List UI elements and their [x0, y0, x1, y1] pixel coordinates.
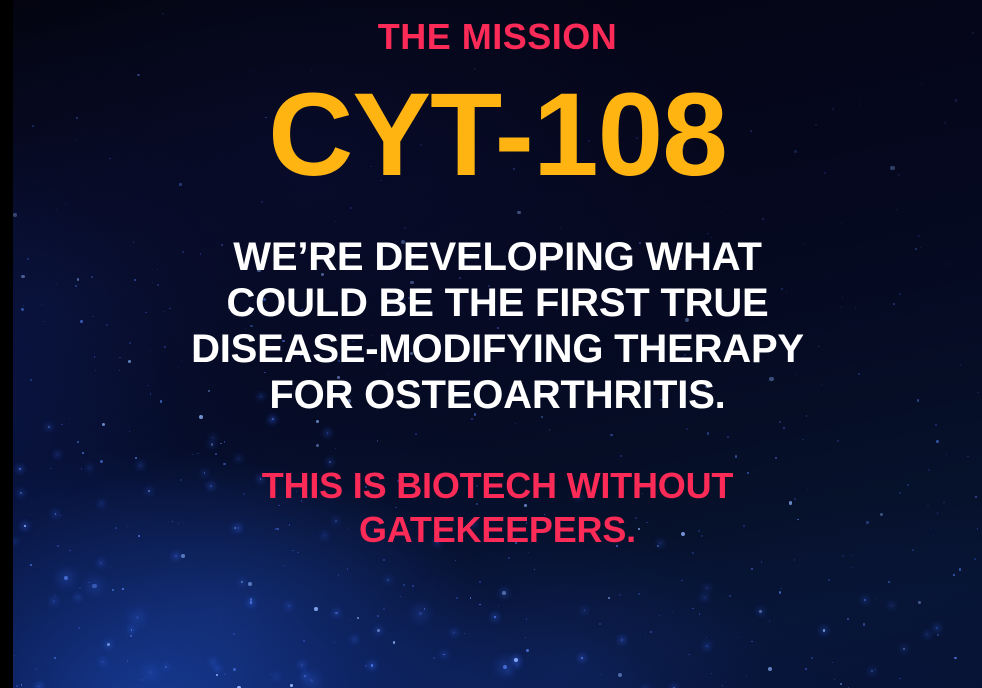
slide-content: THE MISSION CYT-108 WE’RE DEVELOPING WHA…: [13, 0, 982, 688]
tagline: THIS IS BIOTECH WITHOUT GATEKEEPERS.: [262, 464, 733, 552]
body-line: FOR OSTEOARTHRITIS.: [191, 372, 804, 418]
tagline-line: GATEKEEPERS.: [262, 508, 733, 552]
body-line: DISEASE-MODIFYING THERAPY: [191, 326, 804, 372]
body-copy: WE’RE DEVELOPING WHAT COULD BE THE FIRST…: [191, 234, 804, 418]
page-title: CYT-108: [268, 74, 727, 196]
left-letterbox-bar: [0, 0, 13, 688]
slide-canvas: THE MISSION CYT-108 WE’RE DEVELOPING WHA…: [0, 0, 982, 688]
tagline-line: THIS IS BIOTECH WITHOUT: [262, 464, 733, 508]
eyebrow-label: THE MISSION: [378, 18, 618, 56]
body-line: WE’RE DEVELOPING WHAT: [191, 234, 804, 280]
body-line: COULD BE THE FIRST TRUE: [191, 280, 804, 326]
